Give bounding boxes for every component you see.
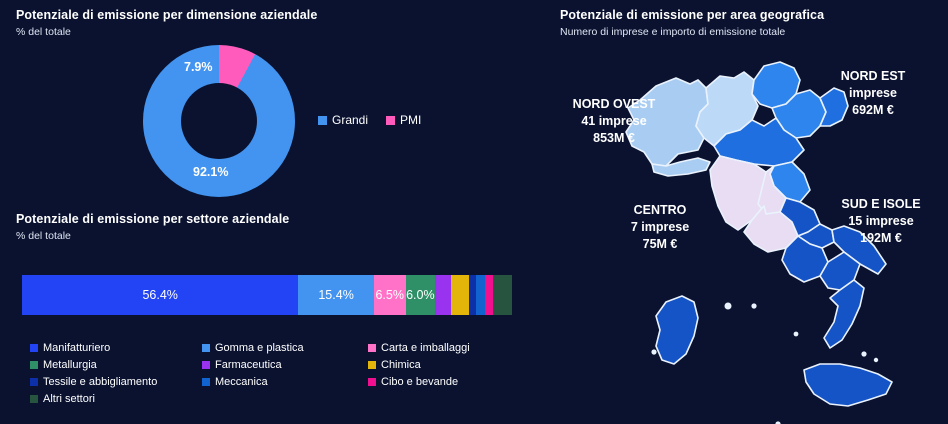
region-name-nord-ovest: NORD OVEST <box>554 96 674 113</box>
bar-segment[interactable]: 6.5% <box>374 275 406 315</box>
legend-label-grandi: Grandi <box>332 113 368 127</box>
map-label-nord-ovest: NORD OVEST 41 imprese 853M € <box>554 96 674 147</box>
bar-segment[interactable] <box>493 275 512 315</box>
sector-legend: ManifatturieroGomma e plasticaCarta e im… <box>30 342 530 405</box>
region-firms-centro: 7 imprese <box>600 219 720 236</box>
sector-legend-item[interactable]: Manifatturiero <box>30 342 202 354</box>
bar-segment[interactable]: 56.4% <box>22 275 298 315</box>
sector-legend-label: Metallurgia <box>43 359 97 371</box>
sector-legend-swatch-icon <box>202 361 210 369</box>
sector-legend-label: Manifatturiero <box>43 342 110 354</box>
map-label-nord-est: NORD EST imprese 692M € <box>810 68 936 119</box>
legend-label-pmi: PMI <box>400 113 421 127</box>
sector-legend-item[interactable]: Gomma e plastica <box>202 342 368 354</box>
island-elba <box>725 303 732 310</box>
sector-subtitle: % del totale <box>16 230 289 243</box>
sector-legend-item[interactable]: Farmaceutica <box>202 359 368 371</box>
sector-legend-swatch-icon <box>30 344 38 352</box>
bar-segment[interactable] <box>485 275 493 315</box>
sector-legend-item[interactable]: Altri settori <box>30 393 202 405</box>
donut-label-pmi: 7.9% <box>184 60 213 74</box>
region-name-centro: CENTRO <box>600 202 720 219</box>
map-label-sud-e-isole: SUD E ISOLE 15 imprese 192M € <box>820 196 942 247</box>
region-name-nord-est: NORD EST <box>810 68 936 85</box>
sector-legend-item[interactable]: Carta e imballaggi <box>368 342 530 354</box>
sector-stacked-bar-chart: 56.4%15.4%6.5%6.0% <box>22 275 512 315</box>
sector-legend-item[interactable]: Metallurgia <box>30 359 202 371</box>
sector-legend-swatch-icon <box>368 344 376 352</box>
italy-map: NORD OVEST 41 imprese 853M € NORD EST im… <box>548 34 948 424</box>
sector-legend-label: Farmaceutica <box>215 359 282 371</box>
sector-title: Potenziale di emissione per settore azie… <box>16 212 289 227</box>
left-column: Potenziale di emissione per dimensione a… <box>0 0 548 424</box>
bar-segment[interactable]: 6.0% <box>406 275 435 315</box>
company-size-panel-header: Potenziale di emissione per dimensione a… <box>16 8 317 39</box>
sector-legend-swatch-icon <box>368 361 376 369</box>
sector-legend-label: Tessile e abbigliamento <box>43 376 157 388</box>
region-amount-sud-e-isole: 192M € <box>820 230 942 247</box>
region-sicilia[interactable] <box>804 364 892 406</box>
bar-segment-value: 15.4% <box>318 288 353 302</box>
island-ustica <box>874 358 878 362</box>
island-asinara <box>651 349 656 354</box>
region-calabria[interactable] <box>824 280 864 348</box>
sector-legend-swatch-icon <box>202 344 210 352</box>
sector-legend-swatch-icon <box>202 378 210 386</box>
bar-segment[interactable] <box>435 275 451 315</box>
region-firms-nord-ovest: 41 imprese <box>554 113 674 130</box>
bar-segment[interactable]: 15.4% <box>298 275 373 315</box>
bar-segment[interactable] <box>476 275 485 315</box>
region-name-sud-e-isole: SUD E ISOLE <box>820 196 942 213</box>
company-size-subtitle: % del totale <box>16 26 317 39</box>
sector-legend-label: Cibo e bevande <box>381 376 458 388</box>
bar-segment[interactable] <box>451 275 470 315</box>
legend-swatch-grandi-icon <box>318 116 327 125</box>
company-size-donut-chart: 7.9% 92.1% <box>143 45 295 197</box>
sector-legend-swatch-icon <box>368 378 376 386</box>
sector-legend-item[interactable]: Tessile e abbigliamento <box>30 376 202 388</box>
sector-legend-label: Altri settori <box>43 393 95 405</box>
sector-legend-label: Meccanica <box>215 376 268 388</box>
region-firms-nord-est: imprese <box>810 85 936 102</box>
donut-label-grandi: 92.1% <box>193 165 228 179</box>
bar-segment-value: 6.5% <box>375 288 404 302</box>
sector-legend-item[interactable]: Meccanica <box>202 376 368 388</box>
legend-item-grandi[interactable]: Grandi <box>318 113 368 127</box>
bar-segment-value: 6.0% <box>406 288 435 302</box>
region-firms-sud-e-isole: 15 imprese <box>820 213 942 230</box>
sector-legend-swatch-icon <box>30 395 38 403</box>
dashboard: Potenziale di emissione per dimensione a… <box>0 0 948 424</box>
company-size-legend: Grandi PMI <box>318 113 421 127</box>
company-size-title: Potenziale di emissione per dimensione a… <box>16 8 317 23</box>
sector-legend-label: Carta e imballaggi <box>381 342 470 354</box>
map-label-centro: CENTRO 7 imprese 75M € <box>600 202 720 253</box>
region-sardegna[interactable] <box>656 296 698 364</box>
island-capri <box>794 332 799 337</box>
sector-legend-label: Chimica <box>381 359 421 371</box>
sector-panel-header: Potenziale di emissione per settore azie… <box>16 212 289 243</box>
island-ponza <box>751 303 756 308</box>
sector-legend-item[interactable]: Chimica <box>368 359 530 371</box>
sector-legend-swatch-icon <box>30 378 38 386</box>
region-amount-nord-ovest: 853M € <box>554 130 674 147</box>
right-column: Potenziale di emissione per area geograf… <box>548 0 948 424</box>
island-eolie <box>861 351 866 356</box>
legend-item-pmi[interactable]: PMI <box>386 113 421 127</box>
bar-segment-value: 56.4% <box>142 288 177 302</box>
region-amount-centro: 75M € <box>600 236 720 253</box>
sector-legend-label: Gomma e plastica <box>215 342 304 354</box>
region-amount-nord-est: 692M € <box>810 102 936 119</box>
legend-swatch-pmi-icon <box>386 116 395 125</box>
sector-legend-swatch-icon <box>30 361 38 369</box>
geo-title: Potenziale di emissione per area geograf… <box>560 8 824 23</box>
sector-legend-item[interactable]: Cibo e bevande <box>368 376 530 388</box>
